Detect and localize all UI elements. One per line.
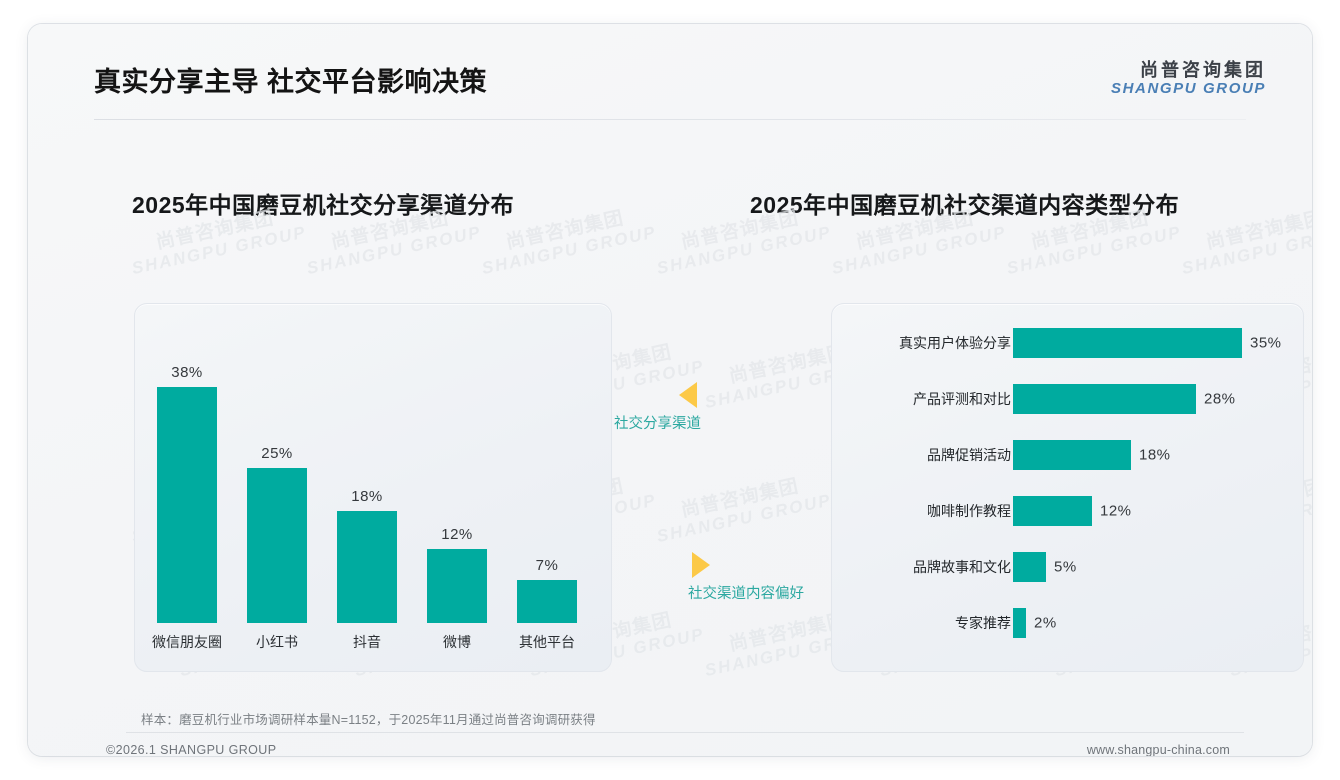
bar-value-label: 12% [1100,503,1132,520]
right-chart-card: 真实用户体验分享35%产品评测和对比28%品牌促销活动18%咖啡制作教程12%品… [831,303,1304,672]
horizontal-bar-row[interactable]: 品牌促销活动18% [832,440,1303,470]
bar-category-label: 抖音 [321,632,413,652]
bar-value-label: 25% [247,445,307,462]
header-divider [94,119,1246,120]
bar-rect[interactable] [247,468,307,623]
bar-value-label: 38% [157,364,217,381]
bar-value-label: 28% [1204,391,1236,408]
horizontal-bar-row[interactable]: 真实用户体验分享35% [832,328,1303,358]
triangle-right-icon [692,552,710,578]
right-chart-title: 2025年中国磨豆机社交渠道内容类型分布 [750,186,1179,220]
vertical-bar-column[interactable]: 25%小红书 [247,468,307,623]
vertical-bar-column[interactable]: 18%抖音 [337,511,397,623]
page-title: 真实分享主导 社交平台影响决策 [94,60,487,99]
annotation-social-share-channel: 社交分享渠道 [614,382,701,433]
vertical-bar-column[interactable]: 38%微信朋友圈 [157,387,217,623]
bar-category-label: 真实用户体验分享 [899,333,1011,353]
bar-category-label: 咖啡制作教程 [927,501,1011,521]
bar-rect[interactable] [337,511,397,623]
copyright-text: ©2026.1 SHANGPU GROUP [106,743,276,756]
sample-footnote: 样本：磨豆机行业市场调研样本量N=1152，于2025年11月通过尚普咨询调研获… [141,709,596,728]
bar-rect[interactable] [427,549,487,623]
bar-value-label: 18% [337,488,397,505]
annotation-label: 社交渠道内容偏好 [688,582,804,603]
bar-rect[interactable] [1013,328,1242,358]
bar-value-label: 18% [1139,447,1171,464]
vertical-bar-column[interactable]: 12%微博 [427,549,487,623]
slide-footer: ©2026.1 SHANGPU GROUP www.shangpu-china.… [28,743,1312,756]
annotation-content-preference: 社交渠道内容偏好 [688,552,804,603]
bar-rect[interactable] [1013,608,1026,638]
left-chart-card: 38%微信朋友圈25%小红书18%抖音12%微博7%其他平台 [134,303,612,672]
bar-rect[interactable] [517,580,577,623]
brand-logo: 尚普咨询集团 SHANGPU GROUP [1111,60,1266,98]
bar-rect[interactable] [1013,384,1196,414]
bar-value-label: 5% [1054,559,1077,576]
slide-header: 真实分享主导 社交平台影响决策 尚普咨询集团 SHANGPU GROUP [28,24,1312,120]
bar-value-label: 7% [517,557,577,574]
footer-divider [126,732,1244,733]
bar-category-label: 微信朋友圈 [141,632,233,652]
bar-rect[interactable] [157,387,217,623]
horizontal-bar-row[interactable]: 咖啡制作教程12% [832,496,1303,526]
bar-category-label: 微博 [411,632,503,652]
bar-category-label: 小红书 [231,632,323,652]
logo-english-text: SHANGPU GROUP [1111,81,1266,98]
bar-value-label: 2% [1034,615,1057,632]
triangle-left-icon [679,382,697,408]
website-url[interactable]: www.shangpu-china.com [1087,743,1230,756]
bar-category-label: 产品评测和对比 [913,389,1011,409]
slide-canvas: 真实分享主导 社交平台影响决策 尚普咨询集团 SHANGPU GROUP 202… [28,24,1312,756]
bar-category-label: 品牌促销活动 [927,445,1011,465]
annotation-label: 社交分享渠道 [614,412,701,433]
bar-category-label: 专家推荐 [955,613,1011,633]
bar-category-label: 品牌故事和文化 [913,557,1011,577]
bar-value-label: 12% [427,526,487,543]
vertical-bar-column[interactable]: 7%其他平台 [517,580,577,623]
bar-rect[interactable] [1013,552,1046,582]
horizontal-bar-row[interactable]: 专家推荐2% [832,608,1303,638]
horizontal-bar-row[interactable]: 产品评测和对比28% [832,384,1303,414]
left-chart-title: 2025年中国磨豆机社交分享渠道分布 [132,186,514,220]
bar-value-label: 35% [1250,335,1282,352]
watermark-text: 尚普咨询集团SHANGPU GROUP [1176,202,1312,278]
logo-chinese-text: 尚普咨询集团 [1111,60,1266,80]
vertical-bar-chart: 38%微信朋友圈25%小红书18%抖音12%微博7%其他平台 [135,304,611,671]
bar-category-label: 其他平台 [501,632,593,652]
watermark-text: 尚普咨询集团SHANGPU GROUP [651,470,834,546]
bar-rect[interactable] [1013,496,1092,526]
bar-rect[interactable] [1013,440,1131,470]
horizontal-bar-row[interactable]: 品牌故事和文化5% [832,552,1303,582]
